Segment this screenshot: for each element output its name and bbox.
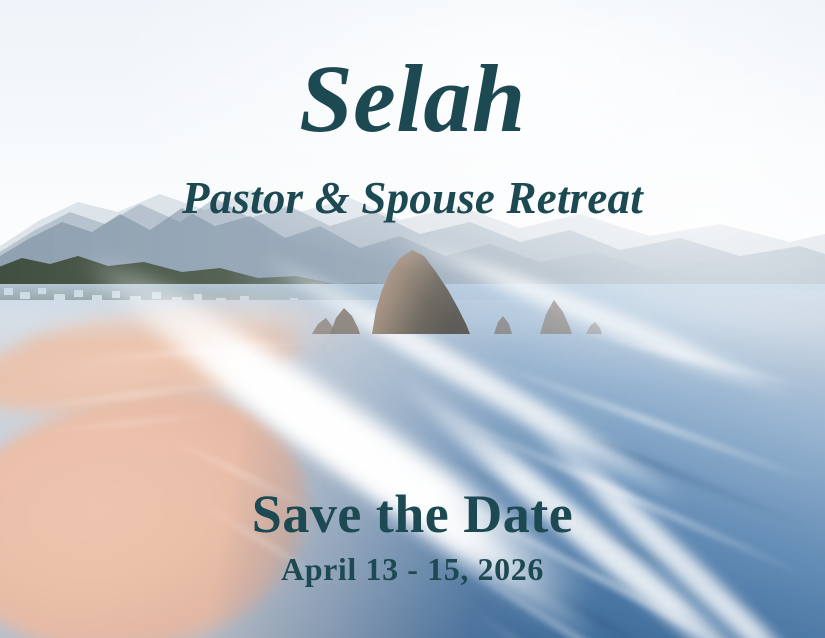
save-the-date-poster: Selah Pastor & Spouse Retreat Save the D… <box>0 0 825 638</box>
poster-text: Selah Pastor & Spouse Retreat Save the D… <box>0 0 825 638</box>
poster-subtitle: Pastor & Spouse Retreat <box>0 176 825 221</box>
event-date: April 13 - 15, 2026 <box>0 553 825 585</box>
poster-title: Selah <box>0 51 825 147</box>
save-the-date-heading: Save the Date <box>0 487 825 541</box>
